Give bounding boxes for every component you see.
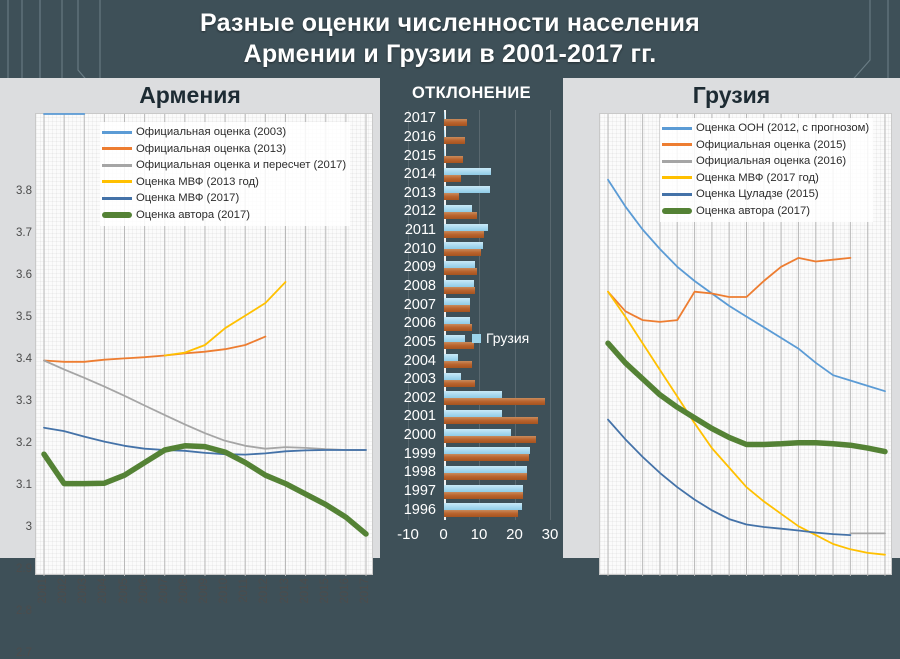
armenia-chart-title: Армения: [0, 82, 380, 109]
bar-armenia: [444, 361, 472, 368]
legend-swatch: [662, 143, 692, 146]
x-axis-tick: 2017: [359, 578, 371, 604]
x-axis-tick: 2004: [97, 578, 109, 604]
y-axis-tick: 3: [26, 521, 32, 533]
bar-armenia: [444, 156, 464, 163]
x-axis-tick: 2007: [158, 578, 170, 604]
deviation-x-tick: 0: [439, 526, 447, 543]
bar-category-label: 2006: [380, 315, 436, 331]
legend-swatch: [662, 176, 692, 179]
bar-category-label: 2016: [380, 129, 436, 145]
bar-georgia: [444, 205, 472, 212]
bar-row: 2002: [380, 390, 563, 409]
deviation-chart-panel: ОТКЛОНЕНИЕ 20172016201520142013201220112…: [380, 78, 563, 558]
bar-georgia: [444, 242, 483, 249]
legend-swatch: [662, 127, 692, 130]
legend-item: Оценка МВФ (2017): [102, 190, 346, 207]
bar-row: 2007: [380, 296, 563, 315]
bar-row: 2013: [380, 185, 563, 204]
legend-swatch-georgia: [472, 334, 481, 343]
bar-armenia: [444, 436, 536, 443]
legend-label: Официальная оценка (2013): [136, 143, 286, 155]
x-axis-tick: 2012: [258, 578, 270, 604]
x-axis-tick: 2006: [138, 578, 150, 604]
title-line-1: Разные оценки численности населения: [200, 8, 700, 39]
y-axis-tick: 3.7: [16, 227, 32, 239]
legend-item: Официальная оценка (2016): [662, 153, 869, 170]
x-axis-tick: 2011: [238, 578, 250, 603]
bar-armenia: [444, 249, 481, 256]
bar-armenia: [444, 324, 472, 331]
legend-item: Официальная оценка (2015): [662, 137, 869, 154]
page-title: Разные оценки численности населения Арме…: [0, 0, 900, 78]
bar-armenia: [444, 175, 462, 182]
bar-row: 2010: [380, 240, 563, 259]
bar-category-label: 2010: [380, 241, 436, 257]
legend-item: Официальная оценка и пересчет (2017): [102, 157, 346, 174]
legend-label: Оценка Цуладзе (2015): [696, 188, 819, 200]
georgia-chart-title: Грузия: [563, 82, 900, 109]
legend-swatch: [102, 164, 132, 167]
bar-georgia: [444, 466, 527, 473]
legend-label: Оценка автора (2017): [136, 209, 250, 221]
legend-item: Оценка МВФ (2017 год): [662, 170, 869, 187]
deviation-bars-area: 2017201620152014201320122011201020092008…: [380, 110, 563, 520]
bar-category-label: 2003: [380, 371, 436, 387]
legend-item: Оценка МВФ (2013 год): [102, 174, 346, 191]
bar-row: 2014: [380, 166, 563, 185]
y-axis-tick: 3.5: [16, 311, 32, 323]
bar-row: 2012: [380, 203, 563, 222]
bar-category-label: 1997: [380, 483, 436, 499]
y-axis-tick: 2.9: [16, 563, 32, 575]
bar-armenia: [444, 287, 476, 294]
x-axis-tick: 2005: [118, 578, 130, 604]
bar-row: 2015: [380, 147, 563, 166]
legend-swatch: [102, 180, 132, 183]
bar-georgia: [444, 317, 471, 324]
x-axis-tick: 2015: [319, 578, 331, 604]
bar-category-label: 1998: [380, 464, 436, 480]
bar-armenia: [444, 473, 527, 480]
armenia-legend: Официальная оценка (2003)Официальная оце…: [100, 122, 350, 226]
bar-georgia: [444, 149, 445, 156]
deviation-x-tick: 20: [506, 526, 523, 543]
bar-georgia: [444, 186, 490, 193]
bar-category-label: 2017: [380, 110, 436, 126]
bar-category-label: 2000: [380, 427, 436, 443]
deviation-x-tick: -10: [397, 526, 419, 543]
legend-item: Официальная оценка (2013): [102, 141, 346, 158]
bar-row: 2000: [380, 427, 563, 446]
bar-georgia: [444, 391, 503, 398]
y-axis-tick: 3.6: [16, 269, 32, 281]
x-axis-tick: 2010: [218, 578, 230, 604]
deviation-chart-title: ОТКЛОНЕНИЕ: [380, 84, 563, 103]
legend-swatch: [662, 193, 692, 196]
bar-category-label: 2015: [380, 148, 436, 164]
legend-label: Оценка автора (2017): [696, 205, 810, 217]
x-axis-tick: 2002: [57, 578, 69, 604]
bar-armenia: [444, 417, 538, 424]
bar-georgia: [444, 168, 492, 175]
bar-armenia: [444, 492, 524, 499]
bar-georgia: [444, 354, 458, 361]
legend-label-georgia: Грузия: [486, 330, 529, 346]
bar-category-label: 2005: [380, 334, 436, 350]
bar-category-label: 2014: [380, 166, 436, 182]
bar-category-label: 1999: [380, 446, 436, 462]
bar-category-label: 2002: [380, 390, 436, 406]
bar-georgia: [444, 429, 511, 436]
y-axis-tick: 3.8: [16, 185, 32, 197]
deviation-x-tick: 30: [542, 526, 559, 543]
bar-row: 2009: [380, 259, 563, 278]
y-axis-tick: 2.7: [16, 647, 32, 659]
bar-row: 1997: [380, 483, 563, 502]
legend-label: Оценка ООН (2012, с прогнозом): [696, 122, 869, 134]
legend-item: Оценка автора (2017): [102, 207, 346, 224]
armenia-x-axis: 2001200220032004200520062007200820092010…: [35, 576, 373, 632]
legend-label: Официальная оценка (2015): [696, 139, 846, 151]
bar-armenia: [444, 454, 529, 461]
bar-category-label: 2011: [380, 222, 436, 238]
y-axis-tick: 3.3: [16, 395, 32, 407]
bar-georgia: [444, 280, 474, 287]
x-axis-tick: 2003: [77, 578, 89, 604]
legend-item: Оценка Цуладзе (2015): [662, 186, 869, 203]
armenia-y-axis: 3.83.73.63.53.43.33.23.132.92.82.7: [2, 191, 32, 653]
bar-armenia: [444, 380, 476, 387]
bar-category-label: 2012: [380, 203, 436, 219]
bar-armenia: [444, 510, 519, 517]
x-axis-tick: 2013: [279, 578, 291, 604]
bar-row: 2011: [380, 222, 563, 241]
georgia-legend: Оценка ООН (2012, с прогнозом)Официальна…: [660, 118, 873, 222]
title-line-2: Армении и Грузии в 2001-2017 гг.: [244, 39, 657, 70]
bar-armenia: [444, 193, 460, 200]
bar-georgia: [444, 503, 522, 510]
legend-swatch: [662, 160, 692, 163]
bar-category-label: 2013: [380, 185, 436, 201]
deviation-legend: Грузия: [472, 330, 529, 346]
bar-armenia: [444, 268, 478, 275]
bar-georgia: [444, 335, 465, 342]
bar-category-label: 2008: [380, 278, 436, 294]
x-axis-tick: 2001: [37, 578, 49, 604]
bar-row: 1999: [380, 445, 563, 464]
legend-item: Оценка автора (2017): [662, 203, 869, 220]
bar-georgia: [444, 130, 446, 137]
legend-swatch: [102, 131, 132, 134]
series-line: [44, 337, 265, 362]
legend-item: Официальная оценка (2003): [102, 124, 346, 141]
bar-row: 1996: [380, 501, 563, 520]
bar-category-label: 2004: [380, 353, 436, 369]
bar-georgia: [444, 447, 531, 454]
bar-armenia: [444, 305, 471, 312]
bar-row: 1998: [380, 464, 563, 483]
bar-category-label: 1996: [380, 502, 436, 518]
legend-swatch: [662, 208, 692, 214]
bar-georgia: [444, 112, 445, 119]
bar-armenia: [444, 137, 465, 144]
bar-row: 2001: [380, 408, 563, 427]
bar-georgia: [444, 485, 524, 492]
bar-georgia: [444, 298, 471, 305]
legend-item: Оценка ООН (2012, с прогнозом): [662, 120, 869, 137]
y-axis-tick: 3.2: [16, 437, 32, 449]
bar-armenia: [444, 119, 467, 126]
bar-row: 2004: [380, 352, 563, 371]
bar-armenia: [444, 398, 545, 405]
bar-georgia: [444, 224, 488, 231]
bar-georgia: [444, 410, 503, 417]
legend-label: Оценка МВФ (2017 год): [696, 172, 819, 184]
deviation-x-tick: 10: [471, 526, 488, 543]
legend-label: Официальная оценка и пересчет (2017): [136, 159, 346, 171]
y-axis-tick: 3.4: [16, 353, 32, 365]
bar-category-label: 2009: [380, 259, 436, 275]
bar-row: 2017: [380, 110, 563, 129]
legend-label: Официальная оценка (2003): [136, 126, 286, 138]
x-axis-tick: 2008: [178, 578, 190, 604]
x-axis-tick: 2016: [339, 578, 351, 604]
bar-row: 2003: [380, 371, 563, 390]
legend-label: Оценка МВФ (2013 год): [136, 176, 259, 188]
legend-swatch: [102, 147, 132, 150]
y-axis-tick: 2.8: [16, 605, 32, 617]
bar-armenia: [444, 342, 474, 349]
x-axis-tick: 2009: [198, 578, 210, 604]
legend-label: Оценка МВФ (2017): [136, 192, 239, 204]
legend-label: Официальная оценка (2016): [696, 155, 846, 167]
bar-category-label: 2001: [380, 408, 436, 424]
bar-georgia: [444, 373, 462, 380]
legend-swatch: [102, 212, 132, 218]
legend-swatch: [102, 197, 132, 200]
bar-armenia: [444, 231, 485, 238]
y-axis-tick: 3.1: [16, 479, 32, 491]
bar-category-label: 2007: [380, 297, 436, 313]
x-axis-tick: 2014: [299, 578, 311, 604]
bar-row: 2016: [380, 129, 563, 148]
bar-row: 2008: [380, 278, 563, 297]
bar-armenia: [444, 212, 478, 219]
bar-georgia: [444, 261, 476, 268]
